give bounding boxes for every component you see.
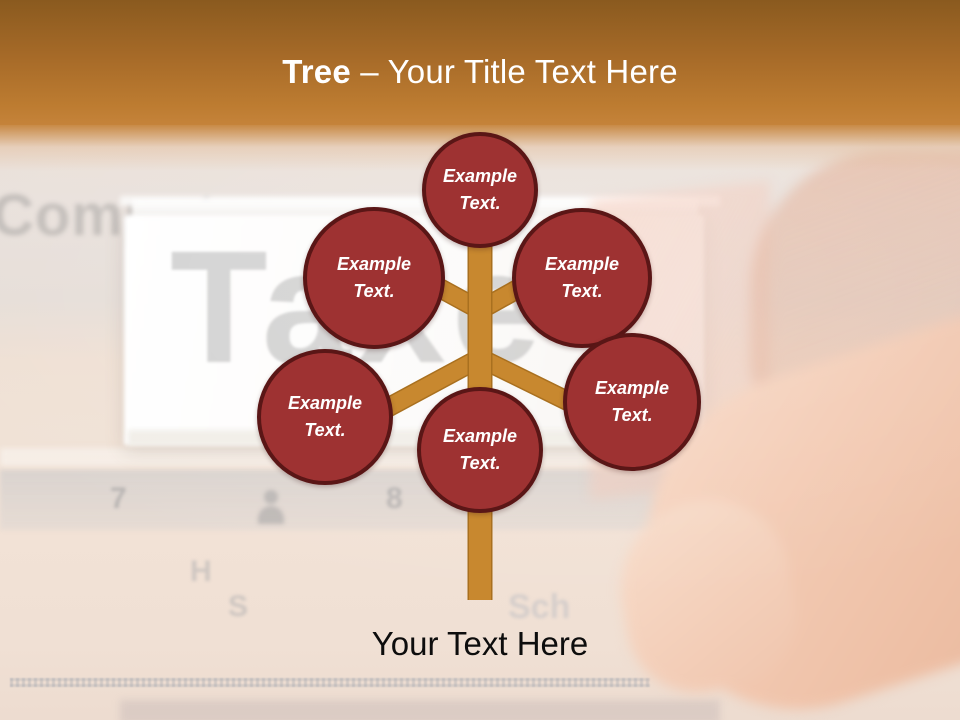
tree-node-mid-right[interactable]: ExampleText.: [512, 208, 652, 348]
bottom-caption: Your Text Here: [0, 623, 960, 665]
tree-node-label-line2: Text.: [561, 278, 602, 305]
tree-node-label-line1: Example: [288, 390, 362, 417]
tree-node-label-line1: Example: [545, 251, 619, 278]
tree-node-mid-left[interactable]: ExampleText.: [303, 207, 445, 349]
tree-node-label-line2: Text.: [611, 402, 652, 429]
tree-node-bottom-left[interactable]: ExampleText.: [257, 349, 393, 485]
slide-canvas: Computer Taxe 7 8 H S Sch Tree – Your Ti…: [0, 0, 960, 720]
tree-node-bottom-right[interactable]: ExampleText.: [563, 333, 701, 471]
tree-node-label-line1: Example: [443, 423, 517, 450]
tree-node-label-line2: Text.: [353, 278, 394, 305]
tree-node-label-line2: Text.: [459, 190, 500, 217]
tree-node-label-line2: Text.: [304, 417, 345, 444]
tree-branches: [0, 0, 960, 720]
tree-node-label-line1: Example: [595, 375, 669, 402]
tree-node-label-line1: Example: [337, 251, 411, 278]
tree-node-bottom-center[interactable]: ExampleText.: [417, 387, 543, 513]
tree-node-label-line1: Example: [443, 163, 517, 190]
tree-node-label-line2: Text.: [459, 450, 500, 477]
tree-node-top[interactable]: ExampleText.: [422, 132, 538, 248]
